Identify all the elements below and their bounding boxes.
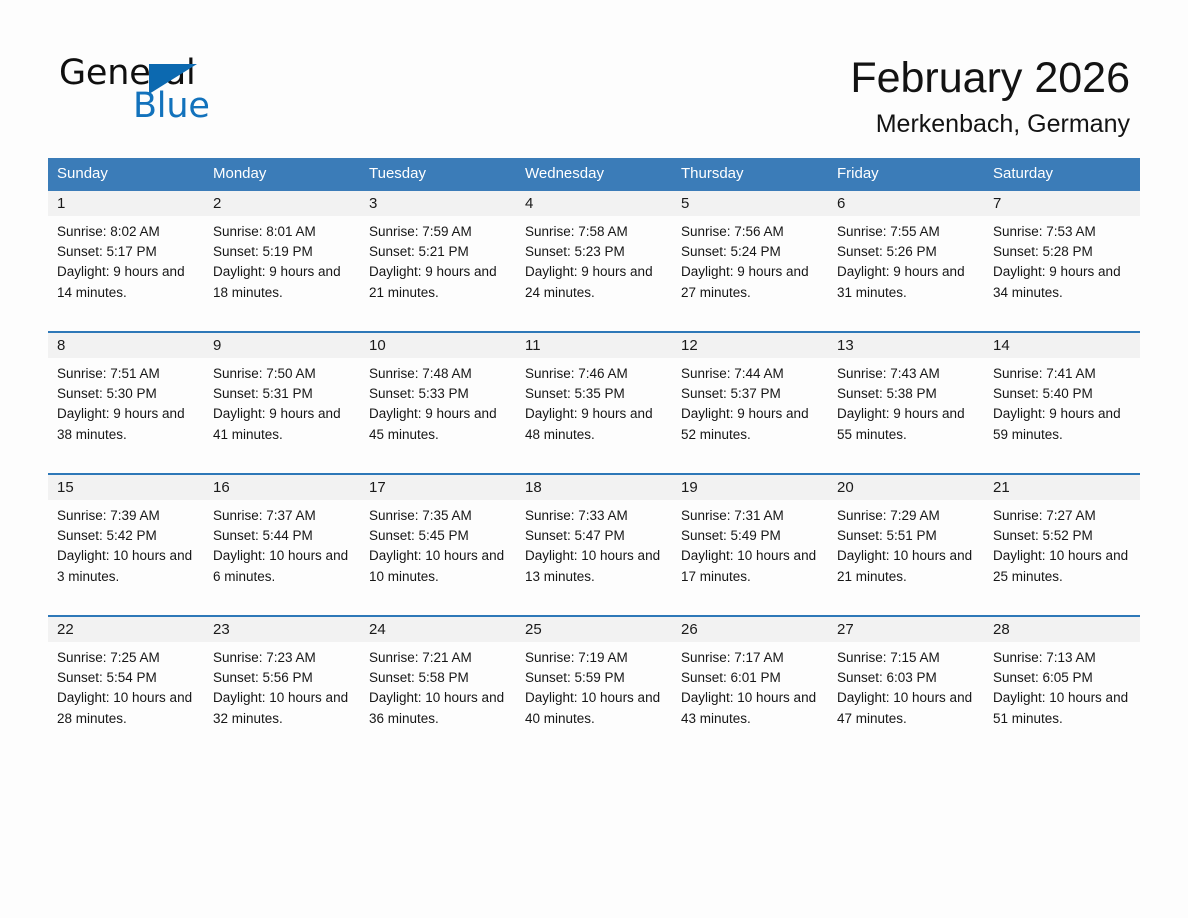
day-info: Sunrise: 7:55 AMSunset: 5:26 PMDaylight:…	[828, 216, 984, 303]
calendar-day-cell[interactable]: 28Sunrise: 7:13 AMSunset: 6:05 PMDayligh…	[984, 617, 1140, 729]
calendar-week-row: 1Sunrise: 8:02 AMSunset: 5:17 PMDaylight…	[48, 191, 1140, 303]
calendar-day-cell[interactable]: 17Sunrise: 7:35 AMSunset: 5:45 PMDayligh…	[360, 475, 516, 587]
sunset-text: Sunset: 6:05 PM	[993, 668, 1132, 688]
sunrise-text: Sunrise: 7:41 AM	[993, 364, 1132, 384]
sunrise-text: Sunrise: 7:37 AM	[213, 506, 352, 526]
daylight-text: Daylight: 10 hours and 25 minutes.	[993, 546, 1132, 586]
daylight-text: Daylight: 9 hours and 18 minutes.	[213, 262, 352, 302]
day-info: Sunrise: 8:01 AMSunset: 5:19 PMDaylight:…	[204, 216, 360, 303]
sunset-text: Sunset: 5:59 PM	[525, 668, 664, 688]
day-number: 8	[48, 333, 204, 358]
calendar-day-cell[interactable]: 19Sunrise: 7:31 AMSunset: 5:49 PMDayligh…	[672, 475, 828, 587]
calendar-day-cell[interactable]: 13Sunrise: 7:43 AMSunset: 5:38 PMDayligh…	[828, 333, 984, 445]
calendar-day-cell[interactable]: 2Sunrise: 8:01 AMSunset: 5:19 PMDaylight…	[204, 191, 360, 303]
calendar-week-row: 15Sunrise: 7:39 AMSunset: 5:42 PMDayligh…	[48, 473, 1140, 587]
calendar-day-cell[interactable]: 7Sunrise: 7:53 AMSunset: 5:28 PMDaylight…	[984, 191, 1140, 303]
daylight-text: Daylight: 10 hours and 6 minutes.	[213, 546, 352, 586]
daylight-text: Daylight: 10 hours and 28 minutes.	[57, 688, 196, 728]
day-number: 18	[516, 475, 672, 500]
day-number: 6	[828, 191, 984, 216]
daylight-text: Daylight: 9 hours and 59 minutes.	[993, 404, 1132, 444]
sunrise-text: Sunrise: 7:44 AM	[681, 364, 820, 384]
day-number: 24	[360, 617, 516, 642]
daylight-text: Daylight: 10 hours and 21 minutes.	[837, 546, 976, 586]
day-number: 9	[204, 333, 360, 358]
calendar-week-row: 8Sunrise: 7:51 AMSunset: 5:30 PMDaylight…	[48, 331, 1140, 445]
day-info: Sunrise: 7:56 AMSunset: 5:24 PMDaylight:…	[672, 216, 828, 303]
daylight-text: Daylight: 9 hours and 31 minutes.	[837, 262, 976, 302]
day-number: 14	[984, 333, 1140, 358]
sunrise-text: Sunrise: 7:15 AM	[837, 648, 976, 668]
day-info: Sunrise: 7:46 AMSunset: 5:35 PMDaylight:…	[516, 358, 672, 445]
day-info: Sunrise: 7:27 AMSunset: 5:52 PMDaylight:…	[984, 500, 1140, 587]
calendar-day-cell[interactable]: 20Sunrise: 7:29 AMSunset: 5:51 PMDayligh…	[828, 475, 984, 587]
calendar-day-cell[interactable]: 24Sunrise: 7:21 AMSunset: 5:58 PMDayligh…	[360, 617, 516, 729]
weekday-header-monday: Monday	[204, 158, 360, 191]
sunset-text: Sunset: 5:24 PM	[681, 242, 820, 262]
sunset-text: Sunset: 5:51 PM	[837, 526, 976, 546]
day-number: 22	[48, 617, 204, 642]
sunrise-text: Sunrise: 7:59 AM	[369, 222, 508, 242]
daylight-text: Daylight: 10 hours and 51 minutes.	[993, 688, 1132, 728]
daylight-text: Daylight: 9 hours and 48 minutes.	[525, 404, 664, 444]
sunrise-text: Sunrise: 7:56 AM	[681, 222, 820, 242]
weekday-header-sunday: Sunday	[48, 158, 204, 191]
daylight-text: Daylight: 9 hours and 34 minutes.	[993, 262, 1132, 302]
sunset-text: Sunset: 5:56 PM	[213, 668, 352, 688]
sunrise-text: Sunrise: 7:53 AM	[993, 222, 1132, 242]
sunset-text: Sunset: 6:03 PM	[837, 668, 976, 688]
day-info: Sunrise: 7:59 AMSunset: 5:21 PMDaylight:…	[360, 216, 516, 303]
day-number: 26	[672, 617, 828, 642]
daylight-text: Daylight: 10 hours and 10 minutes.	[369, 546, 508, 586]
calendar-day-cell[interactable]: 11Sunrise: 7:46 AMSunset: 5:35 PMDayligh…	[516, 333, 672, 445]
day-info: Sunrise: 7:29 AMSunset: 5:51 PMDaylight:…	[828, 500, 984, 587]
day-number: 7	[984, 191, 1140, 216]
calendar-week-row: 22Sunrise: 7:25 AMSunset: 5:54 PMDayligh…	[48, 615, 1140, 729]
sunrise-text: Sunrise: 7:48 AM	[369, 364, 508, 384]
sunset-text: Sunset: 5:26 PM	[837, 242, 976, 262]
calendar-day-cell[interactable]: 26Sunrise: 7:17 AMSunset: 6:01 PMDayligh…	[672, 617, 828, 729]
logo-text-blue: Blue	[133, 86, 210, 126]
sunset-text: Sunset: 5:44 PM	[213, 526, 352, 546]
sunrise-text: Sunrise: 7:23 AM	[213, 648, 352, 668]
daylight-text: Daylight: 10 hours and 36 minutes.	[369, 688, 508, 728]
weekday-header-thursday: Thursday	[672, 158, 828, 191]
day-number: 19	[672, 475, 828, 500]
day-number: 11	[516, 333, 672, 358]
daylight-text: Daylight: 10 hours and 47 minutes.	[837, 688, 976, 728]
sunset-text: Sunset: 5:52 PM	[993, 526, 1132, 546]
title-block: February 2026 Merkenbach, Germany	[850, 52, 1130, 140]
weekday-header-wednesday: Wednesday	[516, 158, 672, 191]
calendar-day-cell[interactable]: 23Sunrise: 7:23 AMSunset: 5:56 PMDayligh…	[204, 617, 360, 729]
daylight-text: Daylight: 9 hours and 41 minutes.	[213, 404, 352, 444]
day-number: 10	[360, 333, 516, 358]
sunset-text: Sunset: 5:35 PM	[525, 384, 664, 404]
day-number: 23	[204, 617, 360, 642]
day-number: 3	[360, 191, 516, 216]
daylight-text: Daylight: 10 hours and 43 minutes.	[681, 688, 820, 728]
weekday-header-saturday: Saturday	[984, 158, 1140, 191]
daylight-text: Daylight: 9 hours and 45 minutes.	[369, 404, 508, 444]
day-info: Sunrise: 7:51 AMSunset: 5:30 PMDaylight:…	[48, 358, 204, 445]
day-info: Sunrise: 7:48 AMSunset: 5:33 PMDaylight:…	[360, 358, 516, 445]
weekday-header-tuesday: Tuesday	[360, 158, 516, 191]
daylight-text: Daylight: 9 hours and 38 minutes.	[57, 404, 196, 444]
calendar-day-cell[interactable]: 25Sunrise: 7:19 AMSunset: 5:59 PMDayligh…	[516, 617, 672, 729]
sunrise-text: Sunrise: 7:17 AM	[681, 648, 820, 668]
day-info: Sunrise: 7:50 AMSunset: 5:31 PMDaylight:…	[204, 358, 360, 445]
day-info: Sunrise: 7:23 AMSunset: 5:56 PMDaylight:…	[204, 642, 360, 729]
day-info: Sunrise: 7:53 AMSunset: 5:28 PMDaylight:…	[984, 216, 1140, 303]
sunset-text: Sunset: 5:38 PM	[837, 384, 976, 404]
calendar-day-cell[interactable]: 5Sunrise: 7:56 AMSunset: 5:24 PMDaylight…	[672, 191, 828, 303]
calendar-day-cell[interactable]: 18Sunrise: 7:33 AMSunset: 5:47 PMDayligh…	[516, 475, 672, 587]
day-number: 16	[204, 475, 360, 500]
day-number: 28	[984, 617, 1140, 642]
sunset-text: Sunset: 5:28 PM	[993, 242, 1132, 262]
daylight-text: Daylight: 10 hours and 13 minutes.	[525, 546, 664, 586]
sunset-text: Sunset: 6:01 PM	[681, 668, 820, 688]
sunset-text: Sunset: 5:19 PM	[213, 242, 352, 262]
day-info: Sunrise: 8:02 AMSunset: 5:17 PMDaylight:…	[48, 216, 204, 303]
sunset-text: Sunset: 5:42 PM	[57, 526, 196, 546]
calendar-day-cell[interactable]: 6Sunrise: 7:55 AMSunset: 5:26 PMDaylight…	[828, 191, 984, 303]
calendar-day-cell[interactable]: 15Sunrise: 7:39 AMSunset: 5:42 PMDayligh…	[48, 475, 204, 587]
day-info: Sunrise: 7:35 AMSunset: 5:45 PMDaylight:…	[360, 500, 516, 587]
day-info: Sunrise: 7:13 AMSunset: 6:05 PMDaylight:…	[984, 642, 1140, 729]
calendar-day-cell[interactable]: 12Sunrise: 7:44 AMSunset: 5:37 PMDayligh…	[672, 333, 828, 445]
sunset-text: Sunset: 5:21 PM	[369, 242, 508, 262]
day-number: 2	[204, 191, 360, 216]
daylight-text: Daylight: 9 hours and 24 minutes.	[525, 262, 664, 302]
page-title: February 2026	[850, 52, 1130, 104]
sunset-text: Sunset: 5:23 PM	[525, 242, 664, 262]
daylight-text: Daylight: 10 hours and 32 minutes.	[213, 688, 352, 728]
sunset-text: Sunset: 5:47 PM	[525, 526, 664, 546]
sunset-text: Sunset: 5:37 PM	[681, 384, 820, 404]
calendar-day-cell[interactable]: 22Sunrise: 7:25 AMSunset: 5:54 PMDayligh…	[48, 617, 204, 729]
sunrise-text: Sunrise: 7:51 AM	[57, 364, 196, 384]
calendar-day-cell[interactable]: 10Sunrise: 7:48 AMSunset: 5:33 PMDayligh…	[360, 333, 516, 445]
calendar-day-cell[interactable]: 16Sunrise: 7:37 AMSunset: 5:44 PMDayligh…	[204, 475, 360, 587]
day-number: 4	[516, 191, 672, 216]
location-subtitle: Merkenbach, Germany	[850, 108, 1130, 140]
day-info: Sunrise: 7:19 AMSunset: 5:59 PMDaylight:…	[516, 642, 672, 729]
calendar-body: 1Sunrise: 8:02 AMSunset: 5:17 PMDaylight…	[48, 191, 1140, 729]
day-info: Sunrise: 7:37 AMSunset: 5:44 PMDaylight:…	[204, 500, 360, 587]
daylight-text: Daylight: 10 hours and 40 minutes.	[525, 688, 664, 728]
sunrise-text: Sunrise: 7:29 AM	[837, 506, 976, 526]
sunset-text: Sunset: 5:49 PM	[681, 526, 820, 546]
sunset-text: Sunset: 5:45 PM	[369, 526, 508, 546]
generalblue-logo[interactable]: General Blue	[59, 53, 259, 125]
sunset-text: Sunset: 5:58 PM	[369, 668, 508, 688]
day-number: 13	[828, 333, 984, 358]
day-info: Sunrise: 7:21 AMSunset: 5:58 PMDaylight:…	[360, 642, 516, 729]
sunrise-text: Sunrise: 7:55 AM	[837, 222, 976, 242]
sunrise-text: Sunrise: 7:58 AM	[525, 222, 664, 242]
day-info: Sunrise: 7:31 AMSunset: 5:49 PMDaylight:…	[672, 500, 828, 587]
sunrise-text: Sunrise: 7:35 AM	[369, 506, 508, 526]
sunrise-text: Sunrise: 7:50 AM	[213, 364, 352, 384]
day-info: Sunrise: 7:33 AMSunset: 5:47 PMDaylight:…	[516, 500, 672, 587]
calendar-page: General Blue February 2026 Merkenbach, G…	[0, 0, 1188, 918]
day-info: Sunrise: 7:43 AMSunset: 5:38 PMDaylight:…	[828, 358, 984, 445]
weekday-header-friday: Friday	[828, 158, 984, 191]
daylight-text: Daylight: 10 hours and 3 minutes.	[57, 546, 196, 586]
day-info: Sunrise: 7:41 AMSunset: 5:40 PMDaylight:…	[984, 358, 1140, 445]
calendar-day-cell[interactable]: 1Sunrise: 8:02 AMSunset: 5:17 PMDaylight…	[48, 191, 204, 303]
day-number: 21	[984, 475, 1140, 500]
sunrise-text: Sunrise: 7:31 AM	[681, 506, 820, 526]
day-number: 1	[48, 191, 204, 216]
day-number: 17	[360, 475, 516, 500]
weekday-header-row: SundayMondayTuesdayWednesdayThursdayFrid…	[48, 158, 1140, 191]
daylight-text: Daylight: 9 hours and 27 minutes.	[681, 262, 820, 302]
calendar-table: SundayMondayTuesdayWednesdayThursdayFrid…	[48, 158, 1140, 729]
sunrise-text: Sunrise: 8:02 AM	[57, 222, 196, 242]
sunset-text: Sunset: 5:40 PM	[993, 384, 1132, 404]
calendar-day-cell[interactable]: 21Sunrise: 7:27 AMSunset: 5:52 PMDayligh…	[984, 475, 1140, 587]
sunrise-text: Sunrise: 7:33 AM	[525, 506, 664, 526]
calendar-day-cell[interactable]: 8Sunrise: 7:51 AMSunset: 5:30 PMDaylight…	[48, 333, 204, 445]
sunrise-text: Sunrise: 7:25 AM	[57, 648, 196, 668]
daylight-text: Daylight: 10 hours and 17 minutes.	[681, 546, 820, 586]
daylight-text: Daylight: 9 hours and 52 minutes.	[681, 404, 820, 444]
sunset-text: Sunset: 5:17 PM	[57, 242, 196, 262]
sunrise-text: Sunrise: 7:13 AM	[993, 648, 1132, 668]
day-number: 15	[48, 475, 204, 500]
sunset-text: Sunset: 5:30 PM	[57, 384, 196, 404]
daylight-text: Daylight: 9 hours and 55 minutes.	[837, 404, 976, 444]
day-info: Sunrise: 7:15 AMSunset: 6:03 PMDaylight:…	[828, 642, 984, 729]
day-number: 12	[672, 333, 828, 358]
daylight-text: Daylight: 9 hours and 14 minutes.	[57, 262, 196, 302]
day-info: Sunrise: 7:25 AMSunset: 5:54 PMDaylight:…	[48, 642, 204, 729]
sunrise-text: Sunrise: 7:46 AM	[525, 364, 664, 384]
day-info: Sunrise: 7:44 AMSunset: 5:37 PMDaylight:…	[672, 358, 828, 445]
daylight-text: Daylight: 9 hours and 21 minutes.	[369, 262, 508, 302]
sunrise-text: Sunrise: 7:21 AM	[369, 648, 508, 668]
day-info: Sunrise: 7:17 AMSunset: 6:01 PMDaylight:…	[672, 642, 828, 729]
sunset-text: Sunset: 5:31 PM	[213, 384, 352, 404]
calendar-day-cell[interactable]: 4Sunrise: 7:58 AMSunset: 5:23 PMDaylight…	[516, 191, 672, 303]
day-number: 20	[828, 475, 984, 500]
sunrise-text: Sunrise: 8:01 AM	[213, 222, 352, 242]
page-header: General Blue February 2026 Merkenbach, G…	[0, 0, 1188, 150]
calendar-day-cell[interactable]: 3Sunrise: 7:59 AMSunset: 5:21 PMDaylight…	[360, 191, 516, 303]
day-number: 5	[672, 191, 828, 216]
sunrise-text: Sunrise: 7:27 AM	[993, 506, 1132, 526]
sunrise-text: Sunrise: 7:43 AM	[837, 364, 976, 384]
day-info: Sunrise: 7:58 AMSunset: 5:23 PMDaylight:…	[516, 216, 672, 303]
calendar-day-cell[interactable]: 9Sunrise: 7:50 AMSunset: 5:31 PMDaylight…	[204, 333, 360, 445]
sunrise-text: Sunrise: 7:19 AM	[525, 648, 664, 668]
day-info: Sunrise: 7:39 AMSunset: 5:42 PMDaylight:…	[48, 500, 204, 587]
calendar-day-cell[interactable]: 27Sunrise: 7:15 AMSunset: 6:03 PMDayligh…	[828, 617, 984, 729]
day-number: 25	[516, 617, 672, 642]
sunrise-text: Sunrise: 7:39 AM	[57, 506, 196, 526]
sunset-text: Sunset: 5:54 PM	[57, 668, 196, 688]
day-number: 27	[828, 617, 984, 642]
sunset-text: Sunset: 5:33 PM	[369, 384, 508, 404]
calendar-day-cell[interactable]: 14Sunrise: 7:41 AMSunset: 5:40 PMDayligh…	[984, 333, 1140, 445]
